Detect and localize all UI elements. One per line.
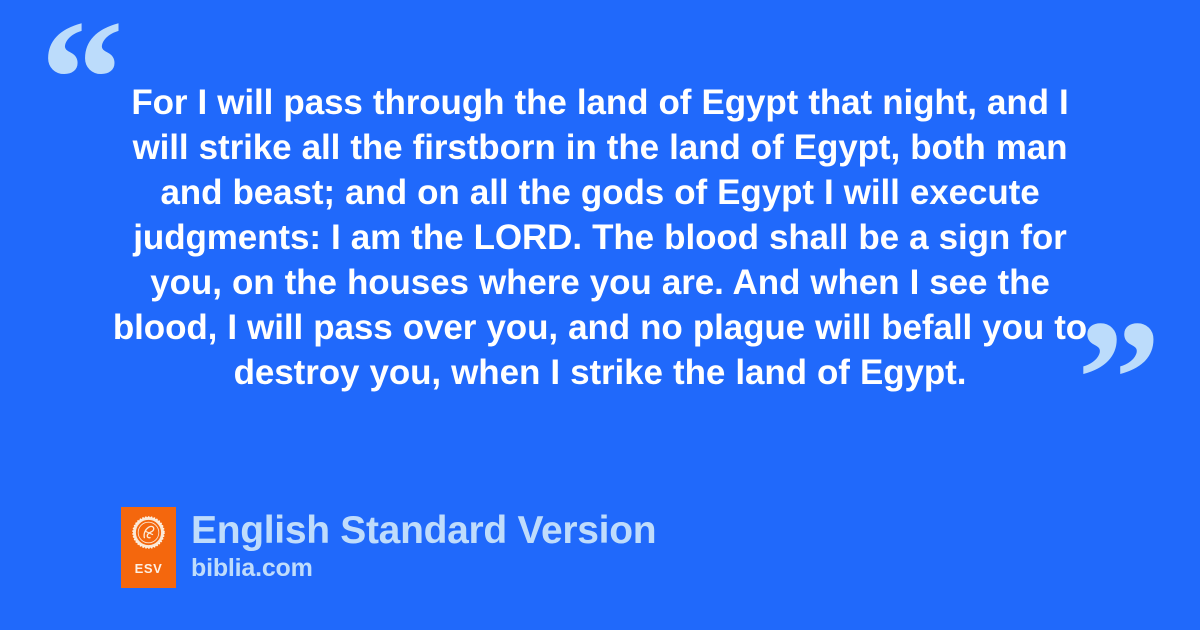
- attribution-footer: ESV English Standard Version biblia.com: [121, 507, 656, 588]
- verse-image-card: “ ” For I will pass through the land of …: [0, 0, 1200, 630]
- quote-text: For I will pass through the land of Egyp…: [110, 80, 1090, 395]
- bible-version-name: English Standard Version: [191, 508, 656, 553]
- quote-block: For I will pass through the land of Egyp…: [110, 80, 1090, 395]
- source-site-name: biblia.com: [191, 553, 656, 583]
- seal-emblem-icon: [132, 516, 165, 549]
- attribution-text: English Standard Version biblia.com: [191, 507, 656, 583]
- esv-logo: ESV: [121, 507, 176, 588]
- esv-logo-abbreviation: ESV: [135, 562, 163, 575]
